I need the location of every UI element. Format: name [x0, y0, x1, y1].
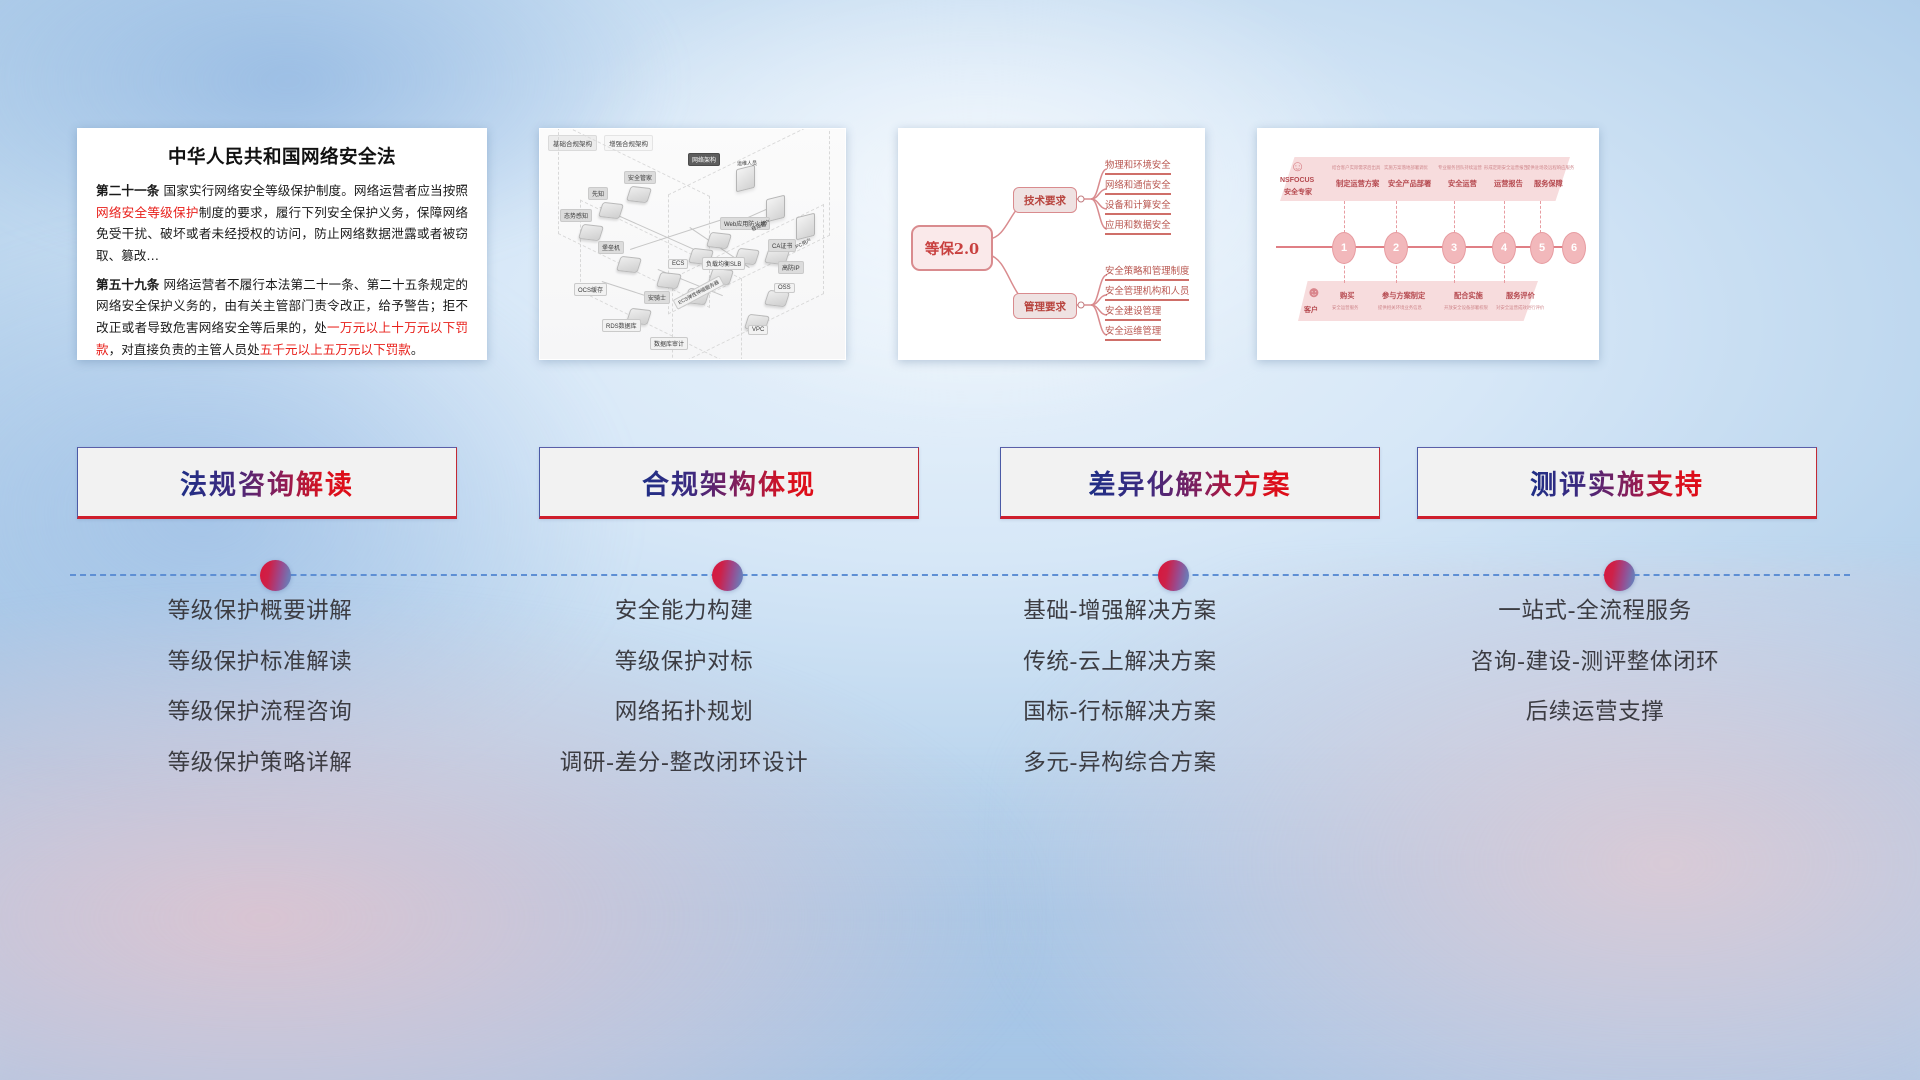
nsfocus-step-number-5: 5: [1530, 232, 1554, 264]
nsfocus-step-number-6: 6: [1562, 232, 1586, 264]
list-item: 传统-云上解决方案: [930, 651, 1310, 674]
section-title-label-1: 法规咨询解读: [180, 463, 354, 502]
section-items-row: 等级保护概要讲解 等级保护标准解读 等级保护流程咨询 等级保护策略详解 安全能力…: [0, 600, 1920, 830]
law-run-2-2: ，对直接负责的主管人员处: [109, 342, 260, 357]
mindmap-leaf-mgmt-3: 安全建设管理: [1105, 303, 1161, 321]
section-items-column-3: 基础-增强解决方案 传统-云上解决方案 国标-行标解决方案 多元-异构综合方案: [930, 600, 1310, 802]
law-paragraph-2: 第五十九条 网络运营者不履行本法第二十一条、第二十五条规定的网络安全保护义务的，…: [96, 274, 468, 360]
law-run-2-4: 。: [411, 342, 424, 357]
arch-label-ecs: ECS: [668, 259, 688, 269]
section-title-box-4[interactable]: 测评实施支持: [1417, 447, 1817, 519]
list-item: 一站式-全流程服务: [1385, 600, 1805, 623]
architecture-thumbnail-card[interactable]: 基础合规架构 增强合规架构: [539, 128, 846, 360]
nsfocus-top-label-4: 运营报告: [1494, 179, 1523, 189]
nsfocus-bottom-tiny-3: 开放安全设备部署权限: [1444, 305, 1488, 311]
nsfocus-customer-label: 客户: [1304, 305, 1318, 315]
arch-label-anti-ddos-ip: 高防IP: [778, 261, 804, 274]
nsfocus-top-tiny-1: 结合客户实际需求后出具: [1332, 165, 1380, 171]
mindmap-leaf-tech-2: 网络和通信安全: [1105, 177, 1171, 195]
arch-label-vpc: VPC: [748, 325, 768, 335]
nsfocus-bottom-label-3: 配合实施: [1454, 291, 1483, 301]
nsfocus-step-number-4: 4: [1492, 232, 1516, 264]
list-item: 网络拓扑规划: [494, 701, 874, 724]
mindmap-branch-management: 管理要求: [1013, 293, 1077, 319]
section-items-column-1: 等级保护概要讲解 等级保护标准解读 等级保护流程咨询 等级保护策略详解: [70, 600, 450, 802]
nsfocus-top-label-2: 安全产品部署: [1388, 179, 1431, 189]
section-title-label-3: 差异化解决方案: [1089, 463, 1292, 502]
list-item: 调研-差分-整改闭环设计: [494, 752, 874, 775]
list-item: 多元-异构综合方案: [930, 752, 1310, 775]
law-run-2-3-highlight: 五千元以上五万元以下罚款: [260, 342, 411, 357]
list-item: 等级保护策略详解: [70, 752, 450, 775]
architecture-diagram: 基础合规架构 增强合规架构: [540, 129, 845, 359]
timeline-dot-4[interactable]: [1604, 560, 1635, 591]
nsfocus-expert-line2: 安全专家: [1284, 187, 1312, 197]
timeline-dashed-line: [70, 574, 1850, 576]
nsfocus-top-tiny-3: 专业服务团队持续运营: [1438, 165, 1482, 171]
timeline-dot-3[interactable]: [1158, 560, 1189, 591]
section-title-box-2[interactable]: 合规架构体现: [539, 447, 919, 519]
law-article-label-2: 第五十九条: [96, 277, 159, 292]
arch-label-database-audit: 数据库审计: [650, 337, 688, 350]
nsfocus-expert-line1: NSFOCUS: [1280, 177, 1314, 184]
arch-label-oss: OSS: [774, 283, 795, 293]
arch-label-rds-database: RDS数据库: [602, 319, 641, 332]
section-items-column-2: 安全能力构建 等级保护对标 网络拓扑规划 调研-差分-整改闭环设计: [494, 600, 874, 802]
nsfocus-top-label-5: 服务保障: [1534, 179, 1563, 189]
mindmap-thumbnail-card[interactable]: 等保2.0 技术要求 管理要求 物理和环境安全 网络和通信安全 设备和计算安全 …: [898, 128, 1205, 360]
mindmap-root-node: 等保2.0: [911, 225, 993, 271]
list-item: 后续运营支撑: [1385, 701, 1805, 724]
arch-label-slb: 负载均衡SLB: [702, 257, 745, 270]
section-title-row: 法规咨询解读 合规架构体现 差异化解决方案 测评实施支持: [0, 447, 1920, 521]
customer-person-icon: ☻: [1306, 285, 1322, 300]
mindmap-leaf-mgmt-2: 安全管理机构和人员: [1105, 283, 1189, 301]
nsfocus-bottom-tiny-4: 对安全运营成效进行评价: [1496, 305, 1544, 311]
law-run-1-0: 国家实行网络安全等级保护制度。网络运营者应当按照: [159, 183, 468, 198]
law-title: 中华人民共和国网络安全法: [96, 143, 468, 169]
nsfocus-top-label-1: 制定运营方案: [1336, 179, 1379, 189]
timeline-dot-2[interactable]: [712, 560, 743, 591]
law-thumbnail-card[interactable]: 中华人民共和国网络安全法 第二十一条 国家实行网络安全等级保护制度。网络运营者应…: [77, 128, 487, 360]
list-item: 等级保护流程咨询: [70, 701, 450, 724]
nsfocus-step-number-2: 2: [1384, 232, 1408, 264]
mindmap-leaf-tech-1: 物理和环境安全: [1105, 157, 1171, 175]
list-item: 等级保护标准解读: [70, 651, 450, 674]
arch-label-xianzhi: 先知: [588, 187, 608, 200]
mindmap-branch-technical: 技术要求: [1013, 187, 1077, 213]
law-run-1-1-highlight: 网络安全等级保护: [96, 205, 199, 220]
arch-label-ocs-cache: OCS缓存: [574, 283, 607, 296]
nsfocus-step-number-1: 1: [1332, 232, 1356, 264]
section-title-label-2: 合规架构体现: [642, 463, 816, 502]
list-item: 安全能力构建: [494, 600, 874, 623]
nsfocus-top-tiny-4: 形成定期安全运营报告: [1484, 165, 1528, 171]
nsfocus-bottom-label-2: 参与方案制定: [1382, 291, 1425, 301]
arch-label-ops-personnel: 运维人员: [734, 159, 760, 168]
section-title-box-1[interactable]: 法规咨询解读: [77, 447, 457, 519]
nsfocus-timeline-thumbnail-card[interactable]: ☺ NSFOCUS 安全专家 ☻ 客户 结合客户实际需求后出具 制定运营方案 实…: [1257, 128, 1599, 360]
mindmap-leaf-mgmt-1: 安全策略和管理制度: [1105, 263, 1189, 281]
law-article-label-1: 第二十一条: [96, 183, 159, 198]
section-items-column-4: 一站式-全流程服务 咨询-建设-测评整体闭环 后续运营支撑: [1385, 600, 1805, 752]
list-item: 咨询-建设-测评整体闭环: [1385, 651, 1805, 674]
arch-label-anqishi: 安骑士: [644, 291, 670, 304]
arch-label-situational-awareness: 态势感知: [560, 209, 592, 222]
expert-person-icon: ☺: [1290, 159, 1305, 174]
section-title-box-3[interactable]: 差异化解决方案: [1000, 447, 1380, 519]
thumbnail-row: 中华人民共和国网络安全法 第二十一条 国家实行网络安全等级保护制度。网络运营者应…: [0, 128, 1920, 360]
list-item: 等级保护对标: [494, 651, 874, 674]
arch-label-security-butler: 安全管家: [624, 171, 656, 184]
arch-label-bastion-host: 堡垒机: [598, 241, 624, 254]
arch-icon-screen-ops: [736, 165, 755, 193]
nsfocus-top-label-3: 安全运营: [1448, 179, 1477, 189]
nsfocus-top-tiny-2: 实施方案落地部署调优: [1384, 165, 1428, 171]
nsfocus-top-tiny-5: 提供驻场及远程响应服务: [1526, 165, 1574, 171]
list-item: 等级保护概要讲解: [70, 600, 450, 623]
mindmap-leaf-tech-3: 设备和计算安全: [1105, 197, 1171, 215]
nsfocus-bottom-label-4: 服务评价: [1506, 291, 1535, 301]
list-item: 国标-行标解决方案: [930, 701, 1310, 724]
timeline: [70, 556, 1850, 596]
mindmap-leaf-tech-4: 应用和数据安全: [1105, 217, 1171, 235]
nsfocus-bottom-label-1: 购买: [1340, 291, 1354, 301]
section-title-label-4: 测评实施支持: [1530, 463, 1704, 502]
timeline-dot-1[interactable]: [260, 560, 291, 591]
mindmap-diagram: 等保2.0 技术要求 管理要求 物理和环境安全 网络和通信安全 设备和计算安全 …: [899, 129, 1204, 359]
nsfocus-step-number-3: 3: [1442, 232, 1466, 264]
nsfocus-bottom-tiny-1: 安全运营服务: [1332, 305, 1358, 311]
mindmap-leaf-mgmt-4: 安全运维管理: [1105, 323, 1161, 341]
arch-label-network-architecture: 网络架构: [688, 153, 720, 166]
nsfocus-bottom-tiny-2: 提供相关环境业务信息: [1378, 305, 1422, 311]
list-item: 基础-增强解决方案: [930, 600, 1310, 623]
nsfocus-timeline-diagram: ☺ NSFOCUS 安全专家 ☻ 客户 结合客户实际需求后出具 制定运营方案 实…: [1258, 129, 1598, 359]
law-paragraph-1: 第二十一条 国家实行网络安全等级保护制度。网络运营者应当按照网络安全等级保护制度…: [96, 180, 468, 267]
